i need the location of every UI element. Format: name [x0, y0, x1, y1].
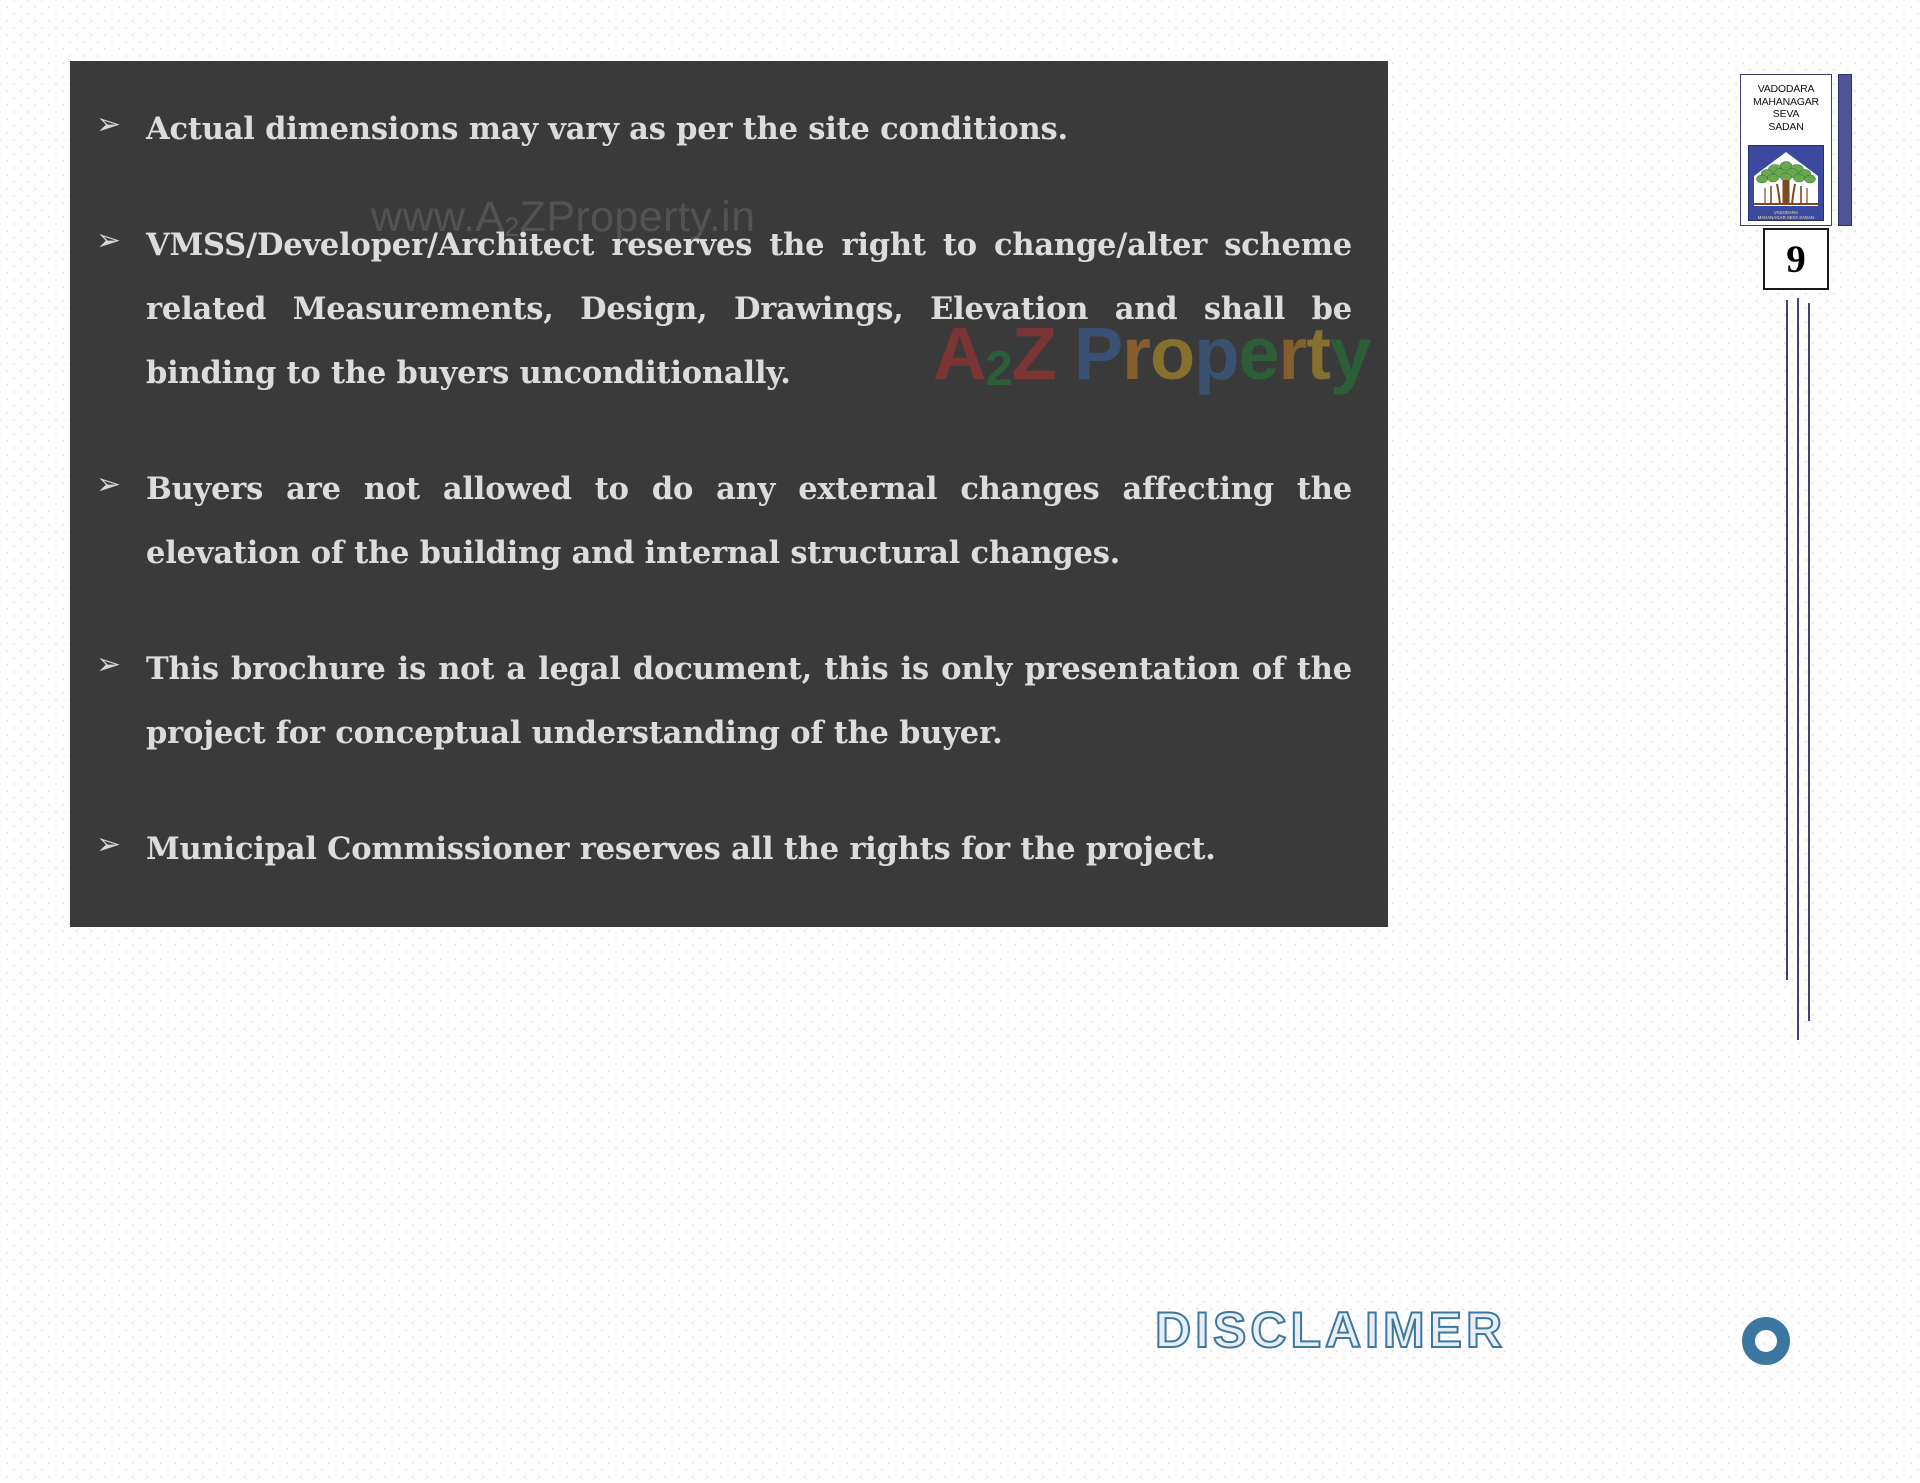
emblem-side-band	[1838, 74, 1852, 226]
page-number-badge: 9	[1763, 228, 1829, 290]
bullet-actual-dimensions: Actual dimensions may vary as per the si…	[146, 97, 1360, 161]
arrow-bullet-icon: ➢	[80, 457, 146, 513]
emblem-title-line-4: SADAN	[1741, 121, 1831, 134]
arrow-bullet-icon: ➢	[80, 817, 146, 873]
emblem-title-line-3: SEVA	[1741, 108, 1831, 121]
decorative-vertical-line	[1786, 300, 1788, 980]
bullet-item: ➢ Actual dimensions may vary as per the …	[80, 97, 1360, 161]
bullet-item: ➢ This brochure is not a legal document,…	[80, 637, 1360, 765]
bullet-municipal-commissioner: Municipal Commissioner reserves all the …	[146, 817, 1360, 881]
banyan-tree-crest-icon: VADODARA MAHANAGAR SEVA SADAN	[1748, 145, 1824, 221]
bullet-item: ➢ VMSS/Developer/Architect reserves the …	[80, 213, 1360, 405]
arrow-bullet-icon: ➢	[80, 97, 146, 153]
arrow-bullet-icon: ➢	[80, 213, 146, 269]
crest-caption-line-2: MAHANAGAR SEVA SADAN	[1749, 215, 1823, 220]
vmss-emblem: VADODARA MAHANAGAR SEVA SADAN	[1740, 74, 1852, 226]
emblem-title-line-1: VADODARA	[1741, 83, 1831, 96]
bullet-item: ➢ Municipal Commissioner reserves all th…	[80, 817, 1360, 881]
emblem-title: VADODARA MAHANAGAR SEVA SADAN	[1741, 75, 1831, 133]
ring-icon	[1742, 1317, 1790, 1365]
bullet-vmss-reserves-right: VMSS/Developer/Architect reserves the ri…	[146, 213, 1360, 405]
emblem-card: VADODARA MAHANAGAR SEVA SADAN	[1740, 74, 1832, 226]
disclaimer-content-panel: ➢ Actual dimensions may vary as per the …	[70, 61, 1388, 927]
slide-canvas: ➢ Actual dimensions may vary as per the …	[0, 0, 1920, 1483]
bullet-item: ➢ Buyers are not allowed to do any exter…	[80, 457, 1360, 585]
bullet-not-legal-document: This brochure is not a legal document, t…	[146, 637, 1360, 765]
bullet-no-external-changes: Buyers are not allowed to do any externa…	[146, 457, 1360, 585]
crest-caption: VADODARA MAHANAGAR SEVA SADAN	[1749, 210, 1823, 220]
arrow-bullet-icon: ➢	[80, 637, 146, 693]
page-title: DISCLAIMER	[1155, 1301, 1506, 1359]
decorative-vertical-line	[1808, 303, 1810, 1021]
decorative-vertical-line	[1797, 298, 1799, 1040]
emblem-title-line-2: MAHANAGAR	[1741, 96, 1831, 109]
